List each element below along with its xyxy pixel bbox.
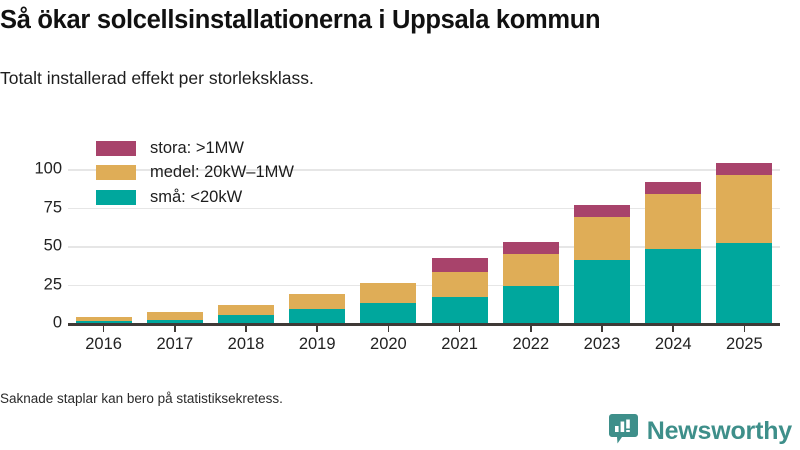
x-axis-tick-label: 2020	[353, 335, 423, 354]
bar-group[interactable]	[503, 154, 559, 323]
legend-label: stora: >1MW	[150, 139, 244, 158]
bar-segment-medel[interactable]	[503, 254, 559, 286]
bar-segment-medel[interactable]	[218, 305, 274, 316]
bar-segment-stora[interactable]	[432, 258, 488, 272]
legend-item[interactable]: medel: 20kW–1MW	[96, 161, 294, 186]
newsworthy-logo: Newsworthy	[609, 414, 792, 449]
x-axis-tick-label: 2025	[709, 335, 779, 354]
bar-segment-medel[interactable]	[574, 217, 630, 260]
x-axis-tick-label: 2016	[69, 335, 139, 354]
bar-segment-sma[interactable]	[645, 249, 701, 323]
bar-segment-medel[interactable]	[716, 175, 772, 243]
x-axis-tick-label: 2023	[567, 335, 637, 354]
brand-name: Newsworthy	[647, 417, 792, 446]
bar-group[interactable]	[360, 154, 416, 323]
bar-group[interactable]	[574, 154, 630, 323]
bar-segment-sma[interactable]	[360, 303, 416, 323]
page-title: Så ökar solcellsinstallationerna i Uppsa…	[0, 6, 790, 35]
bar-segment-medel[interactable]	[289, 294, 345, 309]
x-axis-tick-label: 2017	[140, 335, 210, 354]
legend-swatch	[96, 141, 136, 156]
x-axis-baseline	[68, 323, 780, 326]
page-subtitle: Totalt installerad effekt per storlekskl…	[0, 68, 780, 89]
bar-chart-speech-bubble-icon	[609, 414, 638, 449]
legend-item[interactable]: små: <20kW	[96, 185, 294, 210]
bar-segment-sma[interactable]	[716, 243, 772, 323]
bar-segment-sma[interactable]	[432, 297, 488, 323]
bar-segment-medel[interactable]	[645, 194, 701, 249]
bar-group[interactable]	[289, 154, 345, 323]
x-axis-tick-label: 2018	[211, 335, 281, 354]
x-axis-tick-label: 2022	[496, 335, 566, 354]
bar-segment-sma[interactable]	[218, 315, 274, 323]
bar-segment-stora[interactable]	[503, 242, 559, 254]
bar-segment-stora[interactable]	[716, 163, 772, 175]
bar-group[interactable]	[645, 154, 701, 323]
bar-group[interactable]	[432, 154, 488, 323]
bar-segment-stora[interactable]	[574, 205, 630, 217]
bar-segment-medel[interactable]	[147, 312, 203, 320]
bar-segment-medel[interactable]	[76, 317, 132, 322]
chart-legend: stora: >1MWmedel: 20kW–1MWsmå: <20kW	[96, 136, 294, 210]
bar-segment-sma[interactable]	[574, 260, 630, 323]
bar-segment-sma[interactable]	[503, 286, 559, 323]
x-axis-tick-label: 2019	[282, 335, 352, 354]
bar-group[interactable]	[716, 154, 772, 323]
bar-segment-medel[interactable]	[360, 283, 416, 303]
x-axis-tick-label: 2021	[425, 335, 495, 354]
bar-segment-medel[interactable]	[432, 272, 488, 297]
bar-segment-stora[interactable]	[645, 182, 701, 194]
legend-label: små: <20kW	[150, 188, 242, 207]
x-axis-tick-label: 2024	[638, 335, 708, 354]
legend-label: medel: 20kW–1MW	[150, 163, 294, 182]
footnote: Saknade staplar kan bero på statistiksek…	[0, 391, 283, 406]
legend-swatch	[96, 165, 136, 180]
legend-swatch	[96, 190, 136, 205]
legend-item[interactable]: stora: >1MW	[96, 136, 294, 161]
bar-segment-sma[interactable]	[289, 309, 345, 323]
